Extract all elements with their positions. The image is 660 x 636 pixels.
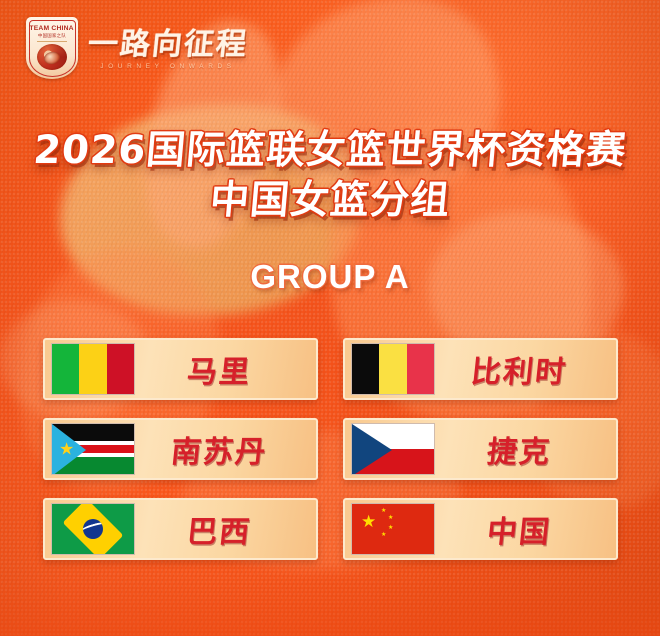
- team-china-crest-icon: TEAM CHINA 中国国家之队: [26, 17, 78, 79]
- team-name-mali: 马里: [133, 347, 313, 391]
- team-grid: 马里 比利时 ★ 南苏丹: [43, 338, 618, 560]
- crest-sub-text: 中国国家之队: [38, 33, 66, 39]
- team-card-china[interactable]: ★ ★ ★ ★ ★ 中国: [343, 498, 618, 560]
- south-sudan-star-icon: ★: [59, 441, 74, 458]
- group-label: GROUP A: [0, 258, 660, 296]
- slogan-english: JOURNEY ONWARDS: [88, 63, 248, 70]
- china-flag-icon: ★ ★ ★ ★ ★: [351, 503, 435, 555]
- crest-emblem-icon: [37, 44, 67, 70]
- brand-wordmark: 一路向征程 JOURNEY ONWARDS: [88, 27, 248, 70]
- team-name-belgium: 比利时: [433, 347, 613, 391]
- slogan-chinese: 一路向征程: [86, 30, 249, 60]
- brazil-flag-icon: [51, 503, 135, 555]
- brand-header: TEAM CHINA 中国国家之队 一路向征程 JOURNEY ONWARDS: [26, 17, 248, 79]
- poster-canvas: TEAM CHINA 中国国家之队 一路向征程 JOURNEY ONWARDS …: [0, 0, 660, 636]
- title-line-1: 2026国际篮联女篮世界杯资格赛: [0, 130, 660, 172]
- team-name-south-sudan: 南苏丹: [133, 427, 313, 471]
- team-name-brazil: 巴西: [133, 507, 313, 551]
- crest-top-text: TEAM CHINA: [30, 24, 74, 31]
- team-name-czechia: 捷克: [433, 427, 613, 471]
- team-card-belgium[interactable]: 比利时: [343, 338, 618, 400]
- team-card-mali[interactable]: 马里: [43, 338, 318, 400]
- team-card-brazil[interactable]: 巴西: [43, 498, 318, 560]
- title-block: 2026国际篮联女篮世界杯资格赛 中国女篮分组: [0, 130, 660, 222]
- belgium-flag-icon: [351, 343, 435, 395]
- crest-divider: [37, 41, 67, 42]
- team-name-china: 中国: [433, 507, 613, 551]
- czechia-flag-icon: [351, 423, 435, 475]
- bottom-fade-overlay: [0, 566, 660, 636]
- title-line-2: 中国女篮分组: [0, 180, 660, 222]
- south-sudan-flag-icon: ★: [51, 423, 135, 475]
- mali-flag-icon: [51, 343, 135, 395]
- team-card-czechia[interactable]: 捷克: [343, 418, 618, 480]
- team-card-south-sudan[interactable]: ★ 南苏丹: [43, 418, 318, 480]
